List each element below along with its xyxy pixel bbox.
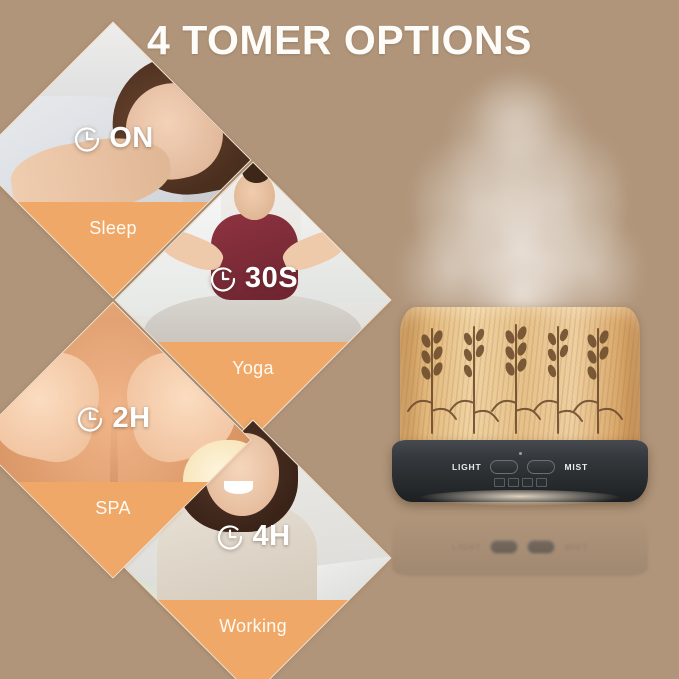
clock-icon [215, 522, 245, 552]
timer-indicator-lights [392, 478, 648, 487]
timer-badge-yoga: 30S [114, 262, 391, 295]
product-feature-graphic: 4 TOMER OPTIONS Sleep [0, 0, 679, 679]
tile-caption-band-working: Working [114, 600, 391, 679]
reflection-control-text: LIGHT MIST [392, 540, 648, 554]
timer-badge-spa: 2H [0, 402, 252, 435]
timer-value-sleep: ON [109, 122, 154, 155]
timer-value-yoga: 30S [245, 262, 298, 295]
timer-value-spa: 2H [112, 402, 150, 435]
clock-icon [72, 124, 102, 154]
lavender-engraving-icon [400, 307, 640, 447]
timer-indicator [494, 478, 505, 487]
reflection-mist-label: MIST [564, 542, 588, 552]
timer-value-working: 4H [252, 520, 290, 553]
led-indicator-icon [519, 452, 522, 455]
reflection-mist-button [527, 540, 555, 554]
mist-label: MIST [564, 462, 588, 472]
timer-badge-sleep: ON [0, 122, 252, 155]
reflection-light-button [490, 540, 518, 554]
page-title: 4 TOMER OPTIONS [0, 18, 679, 63]
mist-button[interactable] [527, 460, 555, 474]
mist-plume [384, 62, 652, 328]
timer-indicator [536, 478, 547, 487]
light-label: LIGHT [452, 462, 482, 472]
diffuser-wood-body [400, 307, 640, 447]
clock-icon [208, 264, 238, 294]
product-reflection: LIGHT MIST [392, 504, 648, 576]
aroma-diffuser-product: LIGHT MIST LIGHT MIST [378, 62, 658, 562]
timer-indicator [508, 478, 519, 487]
clock-icon [75, 404, 105, 434]
control-panel: LIGHT MIST [392, 460, 648, 474]
reflection-light-label: LIGHT [452, 542, 482, 552]
light-button[interactable] [490, 460, 518, 474]
timer-indicator [522, 478, 533, 487]
tile-caption-working: Working [114, 616, 391, 637]
